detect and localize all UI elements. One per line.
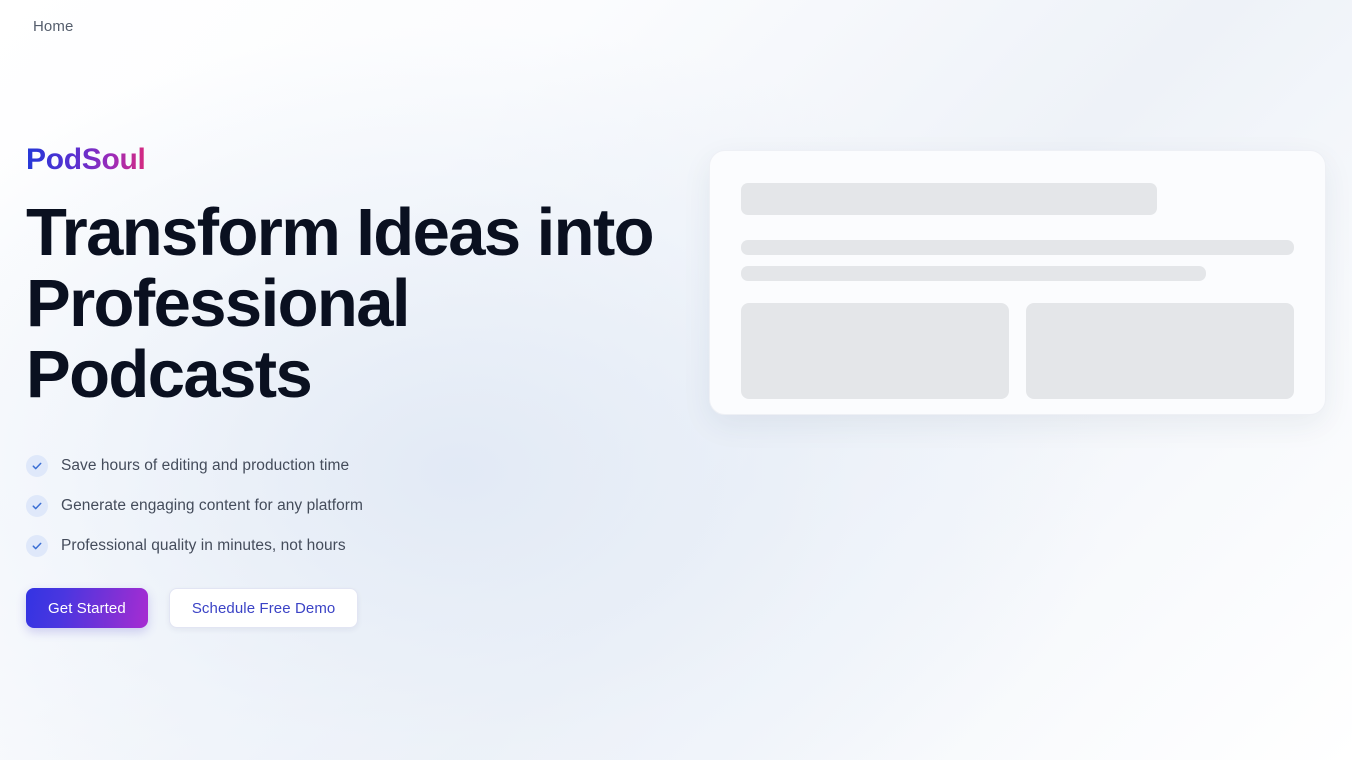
get-started-button[interactable]: Get Started <box>26 588 148 628</box>
brand-logo: PodSoul <box>26 145 146 175</box>
skeleton-title-bar <box>741 183 1157 215</box>
preview-placeholder-card <box>709 150 1326 415</box>
list-item: Generate engaging content for any platfo… <box>26 486 666 526</box>
check-icon <box>26 455 48 477</box>
page-title: Transform Ideas into Professional Podcas… <box>26 197 666 410</box>
skeleton-panel-left <box>741 303 1009 399</box>
list-item: Professional quality in minutes, not hou… <box>26 526 666 566</box>
check-icon <box>26 495 48 517</box>
feature-label: Professional quality in minutes, not hou… <box>61 537 346 555</box>
hero-section: PodSoul Transform Ideas into Professiona… <box>0 0 1352 760</box>
cta-button-row: Get Started Schedule Free Demo <box>26 588 666 628</box>
skeleton-text-line-2 <box>741 266 1206 281</box>
list-item: Save hours of editing and production tim… <box>26 446 666 486</box>
feature-list: Save hours of editing and production tim… <box>26 446 666 566</box>
skeleton-text-line-1 <box>741 240 1294 255</box>
skeleton-panel-row <box>741 303 1294 399</box>
check-icon <box>26 535 48 557</box>
feature-label: Save hours of editing and production tim… <box>61 457 349 475</box>
schedule-demo-button[interactable]: Schedule Free Demo <box>169 588 359 628</box>
skeleton-panel-right <box>1026 303 1294 399</box>
hero-content: PodSoul Transform Ideas into Professiona… <box>26 145 666 628</box>
feature-label: Generate engaging content for any platfo… <box>61 497 363 515</box>
